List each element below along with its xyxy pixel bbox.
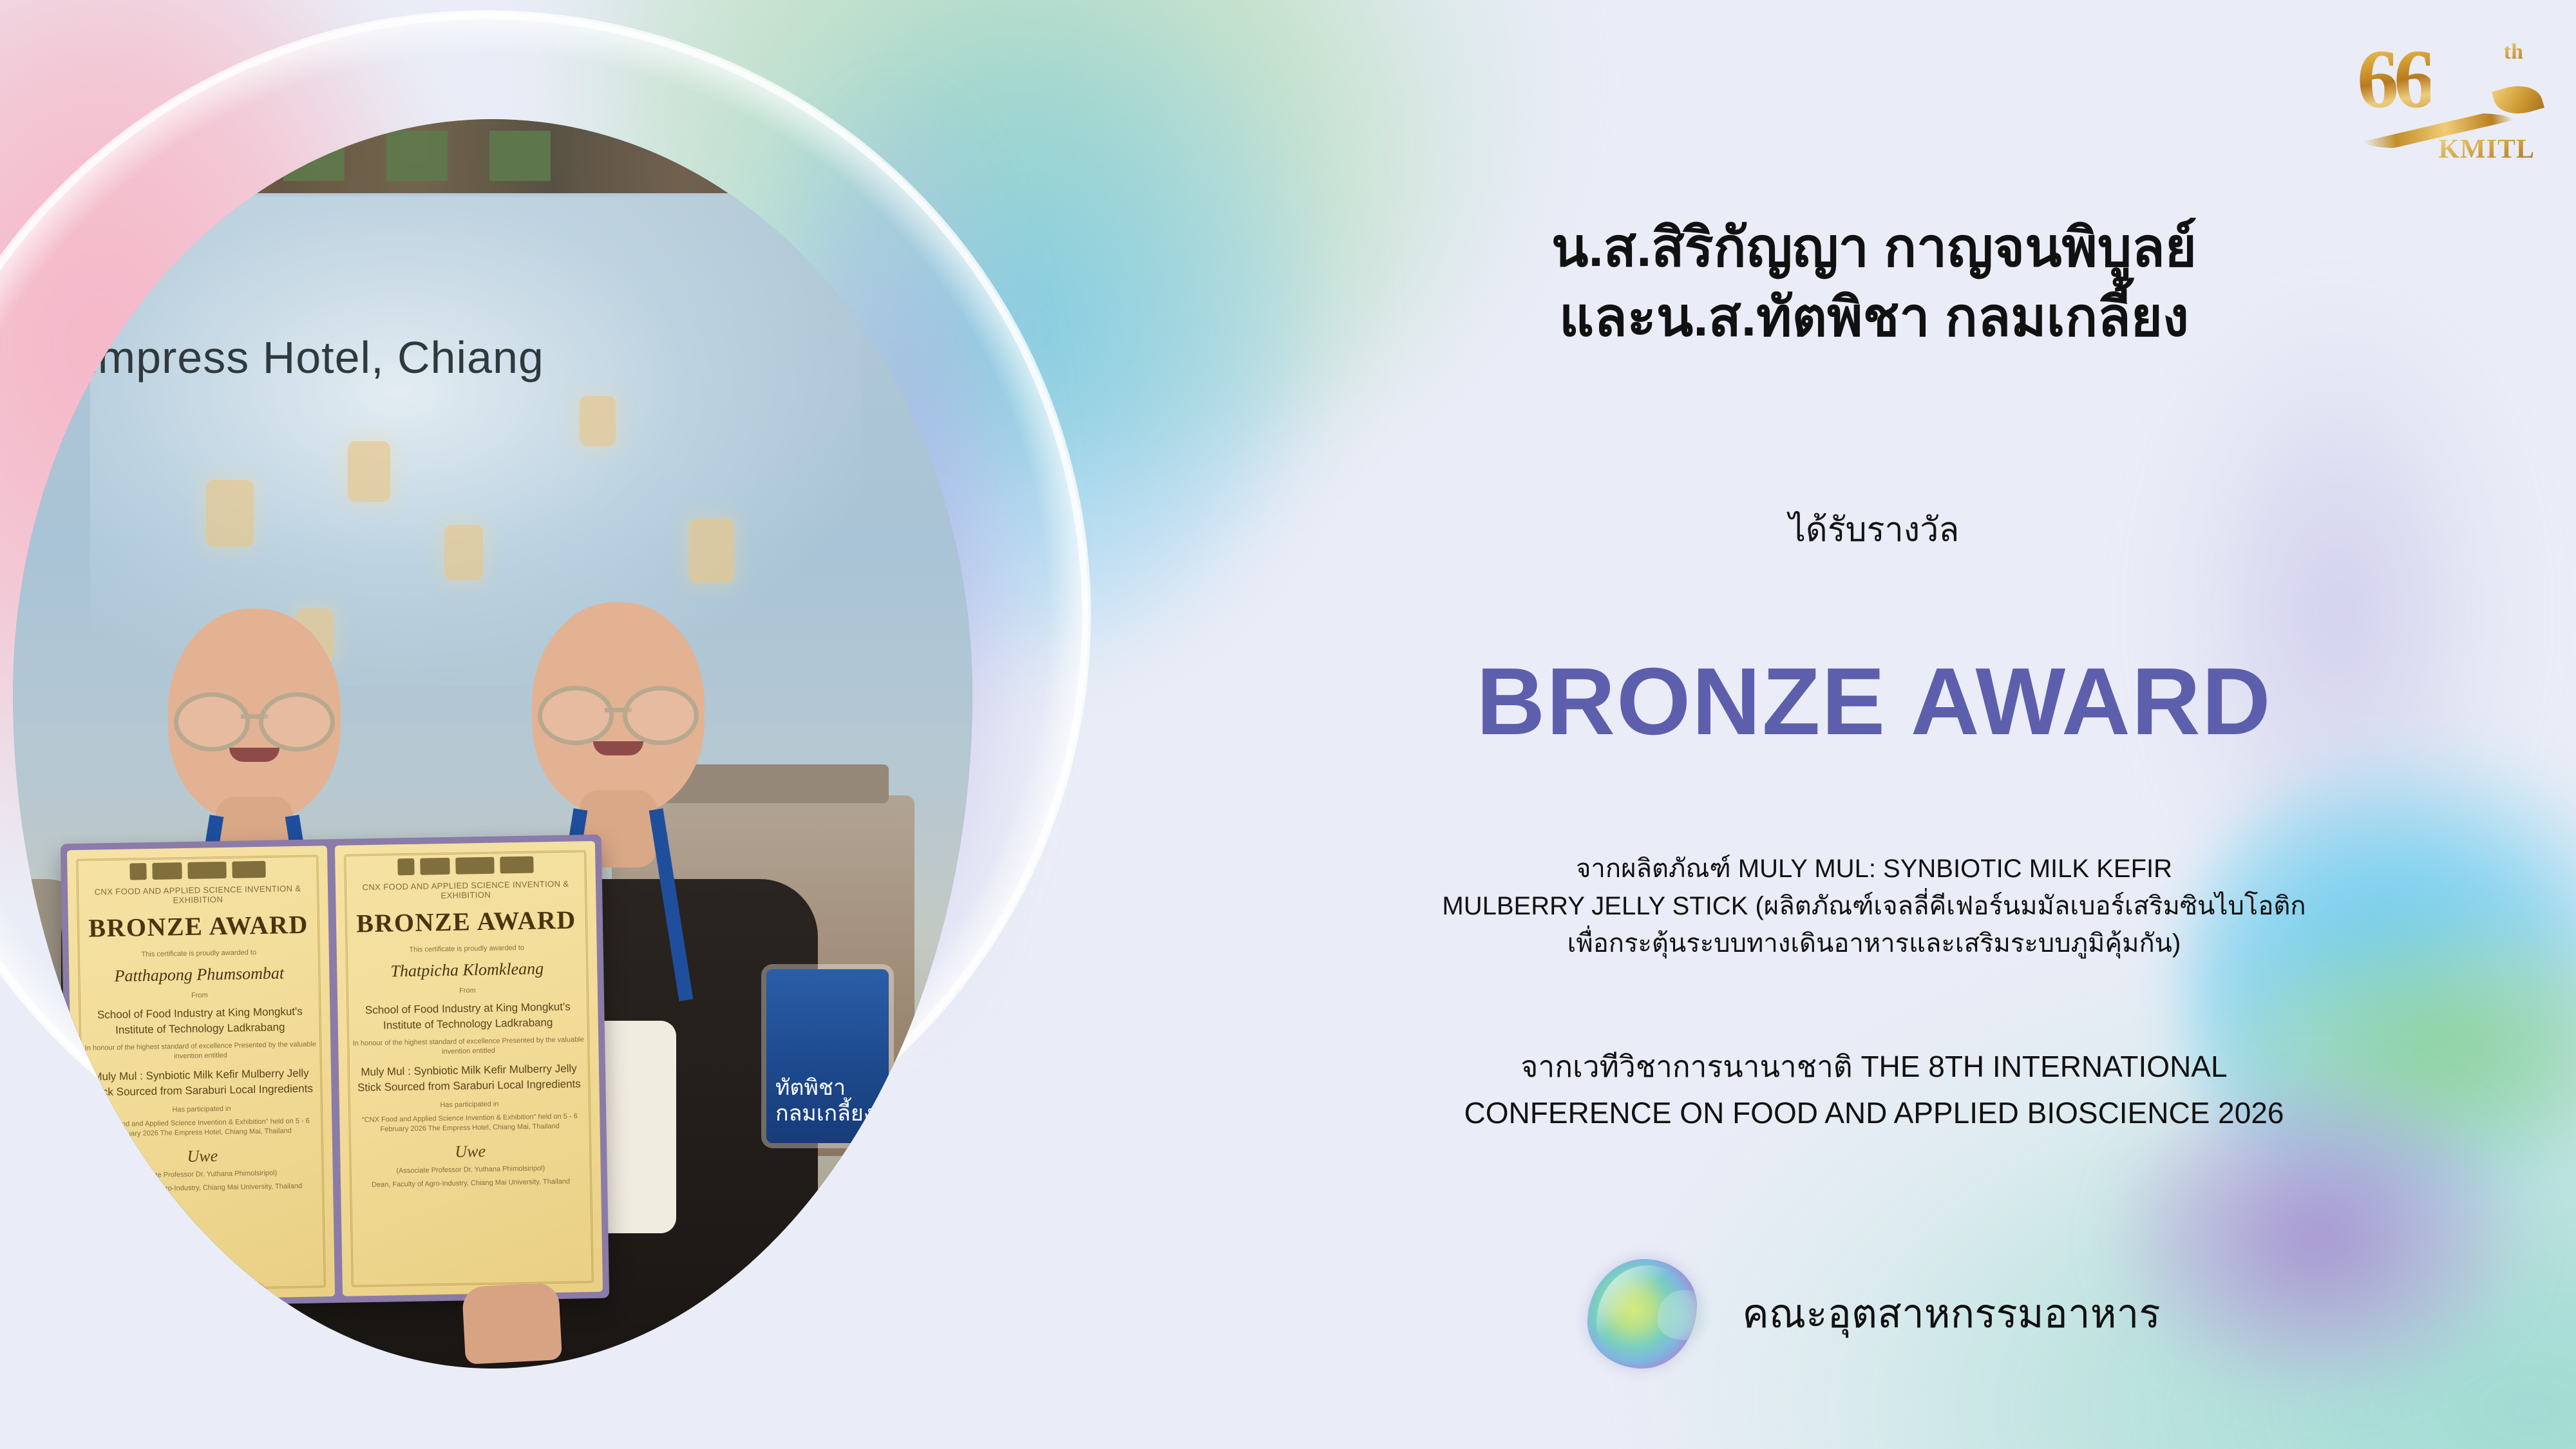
announcement-content: น.ส.สิริกัญญา กาญจนพิบูลย์ และน.ส.ทัตพิช…	[1211, 0, 2537, 1449]
product-line-3: เพื่อกระตุ้นระบบทางเดินอาหารและเสริมระบบ…	[1211, 925, 2537, 962]
certificate-awarded-label: This certificate is proudly awarded to	[346, 942, 588, 956]
certificate-right: CNX FOOD AND APPLIED SCIENCE INVENTION &…	[335, 841, 603, 1296]
conference-info: จากเวทีวิชาการนานาชาติ THE 8TH INTERNATI…	[1211, 1043, 2537, 1136]
backdrop-top-strip	[13, 119, 972, 193]
lantern-icon	[580, 396, 616, 446]
backdrop-hotel-text: The Empress Hotel, Chiang	[13, 332, 811, 383]
certificate-header: CNX FOOD AND APPLIED SCIENCE INVENTION &…	[77, 883, 319, 907]
certificate-signature: Uwe	[349, 1140, 591, 1164]
anniversary-ordinal: th	[2504, 40, 2523, 64]
recipient-name-line-1: น.ส.สิริกัญญา กาญจนพิบูลย์	[1211, 213, 2537, 282]
product-description: จากผลิตภัณฑ์ MULY MUL: SYNBIOTIC MILK KE…	[1211, 850, 2537, 962]
faculty-footer: คณะอุตสาหกรรมอาหาร	[1211, 1259, 2537, 1368]
product-line-2: MULBERRY JELLY STICK (ผลิตภัณฑ์เจลลี่คีเ…	[1211, 887, 2537, 925]
lantern-icon	[206, 480, 254, 547]
glasses-icon	[538, 686, 699, 736]
certificate-logos	[344, 855, 586, 876]
certificate-product: Muly Mul : Synbiotic Milk Kefir Mulberry…	[350, 1061, 588, 1095]
anniversary-number: 66	[2357, 37, 2430, 121]
anniversary-institution: KMITL	[2438, 134, 2535, 165]
certificate-recipient-name: Thatpicha Klomkleang	[346, 958, 588, 982]
certificate-signature: Uwe	[81, 1144, 323, 1168]
certificate-left: CNX FOOD AND APPLIED SCIENCE INVENTION &…	[67, 846, 335, 1301]
certificate-organization: School of Food Industry at King Mongkut'…	[81, 1003, 319, 1038]
certificate-awarded-label: This certificate is proudly awarded to	[78, 947, 320, 961]
recipients-photo: The Empress Hotel, Chiang	[13, 119, 972, 1368]
certificate-product: Muly Mul : Synbiotic Milk Kefir Mulberry…	[82, 1065, 320, 1100]
certificate-header: CNX FOOD AND APPLIED SCIENCE INVENTION &…	[345, 878, 587, 902]
faculty-name: คณะอุตสาหกรรมอาหาร	[1742, 1282, 2160, 1345]
name-badge: ทัตพิชา กลมเกลี้ยง	[766, 969, 889, 1143]
product-line-1: จากผลิตภัณฑ์ MULY MUL: SYNBIOTIC MILK KE…	[1211, 850, 2537, 887]
certificate-logos	[76, 860, 318, 881]
glasses-icon	[174, 692, 335, 743]
certificate-honour: In honour of the highest standard of exc…	[79, 1039, 321, 1063]
certificate-participated-label: Has participated in	[80, 1103, 323, 1117]
recipient-name-line-2: และน.ส.ทัตพิชา กลมเกลี้ยง	[1211, 282, 2537, 352]
lantern-icon	[348, 441, 390, 502]
certificate-title: BRONZE AWARD	[345, 904, 588, 939]
anniversary-logo-icon: 66 th KMITL	[2352, 26, 2545, 167]
conference-line-2: CONFERENCE ON FOOD AND APPLIED BIOSCIENC…	[1211, 1090, 2537, 1136]
certificate-title: BRONZE AWARD	[77, 909, 320, 943]
certificate-signer: (Associate Professor Dr. Yuthana Phimols…	[350, 1163, 592, 1177]
certificate-from-label: From	[79, 989, 321, 1003]
conference-line-1: จากเวทีวิชาการนานาชาติ THE 8TH INTERNATI…	[1211, 1043, 2537, 1090]
certificate-participated-label: Has participated in	[348, 1098, 591, 1112]
certificate-signer-title: Dean, Faculty of Agro-Industry, Chiang M…	[82, 1181, 324, 1195]
hand	[462, 1282, 562, 1365]
food-industry-droplet-logo-icon	[1587, 1259, 1697, 1368]
award-announcement-poster: The Empress Hotel, Chiang	[0, 0, 2576, 1449]
certificate-signer: (Associate Professor Dr. Yuthana Phimols…	[82, 1168, 324, 1182]
name-badge-text: ทัตพิชา กลมเกลี้ยง	[775, 1075, 889, 1126]
certificate-recipient-name: Patthapong Phumsombat	[78, 963, 320, 987]
certificate-event: "CNX Food and Applied Science Invention …	[80, 1116, 323, 1140]
certificate-honour: In honour of the highest standard of exc…	[347, 1035, 589, 1059]
award-title: BRONZE AWARD	[1211, 650, 2537, 753]
recipient-names: น.ส.สิริกัญญา กาญจนพิบูลย์ และน.ส.ทัตพิช…	[1211, 213, 2537, 352]
certificate-from-label: From	[346, 984, 589, 998]
certificate-folder: CNX FOOD AND APPLIED SCIENCE INVENTION &…	[61, 835, 609, 1308]
certificate-event: "CNX Food and Applied Science Invention …	[348, 1112, 591, 1135]
received-award-label: ได้รับรางวัล	[1211, 502, 2537, 556]
certificate-signer-title: Dean, Faculty of Agro-Industry, Chiang M…	[350, 1177, 592, 1191]
hand	[171, 1275, 273, 1359]
certificate-organization: School of Food Industry at King Mongkut'…	[349, 999, 587, 1034]
